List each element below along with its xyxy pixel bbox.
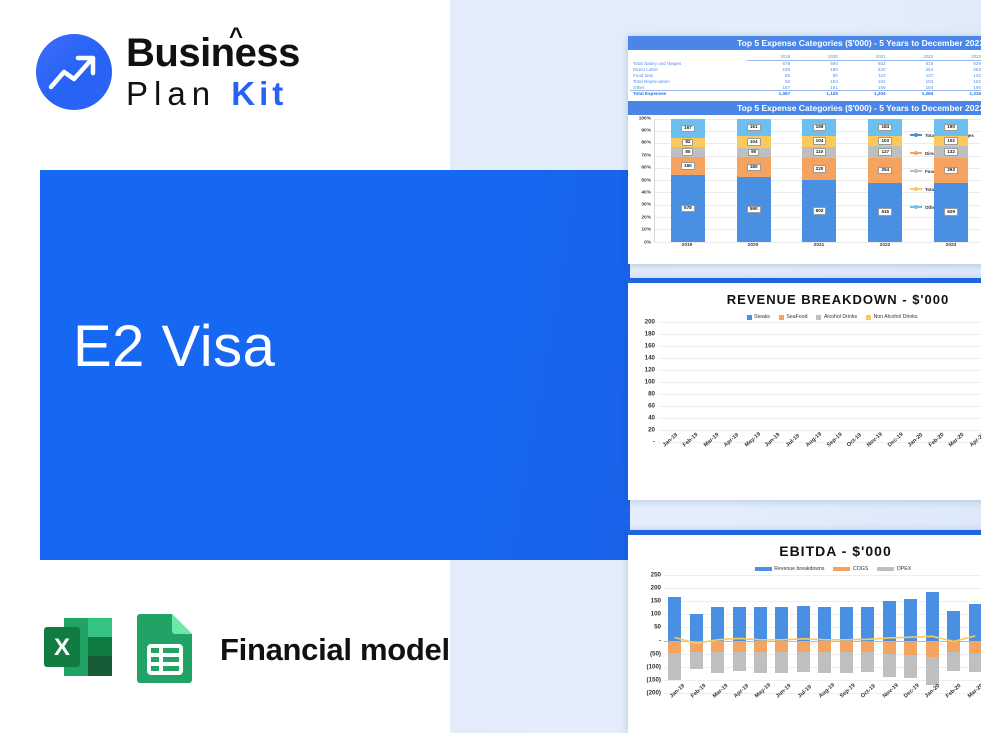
brand-logo: Business ^ Plan Kit <box>36 33 300 110</box>
x-tick-label: 2022 <box>868 243 902 248</box>
y-tick-label: (150) <box>647 676 661 683</box>
y-tick-label: 180 <box>645 331 655 338</box>
bar-value-label: 167 <box>681 125 695 133</box>
y-tick-label: 0% <box>644 240 651 245</box>
revenue-breakdown-card: REVENUE BREAKDOWN - $'000 SteaksSeaFoodA… <box>628 278 981 500</box>
chart-bar-segment: 103 <box>868 136 902 146</box>
legend-item: Revenue breakdowns <box>755 566 825 572</box>
legend-swatch <box>779 315 784 320</box>
growth-arrow-icon <box>36 34 112 110</box>
legend-label: Alcohol Drinks <box>824 314 857 320</box>
legend-swatch <box>910 188 922 189</box>
y-tick-label: 100 <box>651 611 661 618</box>
legend-label: Non Alcohol Drinks <box>874 314 918 320</box>
chart-bar-segment: 80 <box>671 147 705 156</box>
brand-name-line1: Business <box>126 31 300 75</box>
chart-plot-area <box>658 322 981 442</box>
chart-bar-column: 1678280160578 <box>671 119 705 242</box>
chart-bar-segment: 263 <box>934 158 968 183</box>
y-tick-label: 80 <box>648 391 655 398</box>
revenue-chart-body: -20406080100120140160180200 <box>628 322 981 442</box>
ebitda-card: EBITDA - $'000 Revenue breakdownsCOGSOPE… <box>628 530 981 733</box>
brand-name-plan: Plan <box>126 75 216 112</box>
table-total-row: Total Expenses 1,067 1,125 1,204 1,284 1… <box>630 90 981 96</box>
bar-value-label: 110 <box>813 148 826 156</box>
expense-categories-card: Top 5 Expense Categories ($'000) - 5 Yea… <box>628 36 981 264</box>
y-tick-label: (50) <box>650 650 661 657</box>
legend-swatch <box>910 206 922 207</box>
legend-label: Revenue breakdowns <box>774 566 824 572</box>
y-tick-label: 120 <box>645 367 655 374</box>
legend-item: SeaFood <box>779 314 808 320</box>
legend-swatch <box>833 567 850 572</box>
legend-label: Steaks <box>754 314 770 320</box>
chart-bar-segment: 110 <box>802 147 836 158</box>
y-tick-label: 60% <box>641 166 651 171</box>
legend-swatch <box>816 315 821 320</box>
chart-bar-segment: 102 <box>934 136 968 146</box>
y-tick-label: 100 <box>645 379 655 386</box>
bar-value-label: 82 <box>682 139 693 147</box>
cell: 1,316 <box>938 90 981 96</box>
chart-bar-column: 190102132263629 <box>934 119 968 242</box>
y-tick-label: 70% <box>641 153 651 158</box>
y-tick-label: - <box>659 637 661 644</box>
y-tick-label: 200 <box>645 319 655 326</box>
x-tick-label: 2023 <box>934 243 968 248</box>
y-tick-label: 30% <box>641 203 651 208</box>
chart-x-axis: Jan-19Feb-19Mar-19Apr-19May-19Jun-19Jul-… <box>659 442 981 472</box>
bar-value-label: 220 <box>813 165 827 173</box>
chart-y-axis: (200)(150)(100)(50)-50100150200250 <box>628 575 664 693</box>
y-tick-label: 100% <box>639 116 651 121</box>
y-tick-label: 250 <box>651 572 661 579</box>
bar-value-label: 254 <box>878 167 892 175</box>
y-tick-label: 60 <box>648 403 655 410</box>
chart-bar-segment: 167 <box>671 119 705 138</box>
legend-label: OPEX <box>897 566 911 572</box>
expense-chart-title: Top 5 Expense Categories ($'000) - 5 Yea… <box>628 101 981 115</box>
cell: 1,125 <box>795 90 843 96</box>
chart-bar-segment: 82 <box>671 138 705 147</box>
bar-value-label: 169 <box>813 124 827 132</box>
legend-item: COGS <box>833 566 868 572</box>
y-tick-label: 50 <box>654 624 661 631</box>
chart-bar-segment: 90 <box>737 148 771 158</box>
row-label: Total Expenses <box>630 90 747 96</box>
ebitda-line-series <box>664 575 981 694</box>
microsoft-excel-icon: X <box>40 608 118 691</box>
legend-label: COGS <box>853 566 868 572</box>
bar-value-label: 103 <box>878 137 892 145</box>
legend-swatch <box>877 567 894 572</box>
chart-bar-segment: 602 <box>802 180 836 241</box>
y-tick-label: (100) <box>647 663 661 670</box>
legend-item: Steaks <box>747 314 770 320</box>
format-label: Financial model <box>220 632 450 668</box>
chart-bar-segment: 578 <box>671 175 705 242</box>
y-tick-label: 200 <box>651 585 661 592</box>
x-tick-label: 2020 <box>736 243 770 248</box>
chart-bar-segment: 104 <box>737 136 771 147</box>
bar-value-label: 127 <box>878 148 892 156</box>
y-tick-label: 20 <box>648 427 655 434</box>
y-tick-label: 40 <box>648 415 655 422</box>
bar-value-label: 80 <box>682 148 693 156</box>
chart-bar-segment: 104 <box>802 136 836 147</box>
ebitda-chart-body: (200)(150)(100)(50)-50100150200250 <box>628 575 981 693</box>
chart-bar-segment: 220 <box>802 158 836 180</box>
legend-swatch <box>910 134 922 135</box>
cell: 1,204 <box>843 90 891 96</box>
chart-bar-segment: 190 <box>934 119 968 137</box>
chart-bar-segment: 629 <box>934 183 968 242</box>
legend-swatch <box>755 567 772 572</box>
y-tick-label: 10% <box>641 228 651 233</box>
bar-value-label: 160 <box>681 162 695 170</box>
card-accent-bar <box>628 530 981 535</box>
chart-x-axis: Jan-19Feb-19Mar-19Apr-19May-19Jun-19Jul-… <box>665 693 981 723</box>
chart-bar-segment: 160 <box>671 157 705 175</box>
bar-value-label: 161 <box>747 124 761 132</box>
chart-bar-segment: 132 <box>934 146 968 158</box>
page-title: E2 Visa <box>73 313 275 380</box>
y-tick-label: 150 <box>651 598 661 605</box>
svg-text:X: X <box>54 634 70 661</box>
chart-bar-segment: 161 <box>737 119 771 137</box>
bar-value-label: 102 <box>944 137 958 145</box>
chart-bar-segment: 184 <box>868 119 902 137</box>
brand-name-kit: Kit <box>231 75 287 112</box>
ebitda-chart-title: EBITDA - $'000 <box>683 543 981 559</box>
bar-value-label: 104 <box>813 137 827 145</box>
y-tick-label: (200) <box>647 690 661 697</box>
y-tick-label: 20% <box>641 215 651 220</box>
bar-value-label: 90 <box>748 149 759 157</box>
expense-table-title: Top 5 Expense Categories ($'000) - 5 Yea… <box>628 36 981 50</box>
chart-x-axis: 20192020202120222023 <box>654 243 981 248</box>
legend-item: OPEX <box>877 566 911 572</box>
bar-value-label: 104 <box>747 138 761 146</box>
bar-value-label: 132 <box>944 148 958 156</box>
gridline <box>655 242 981 243</box>
chart-plot-area <box>664 575 981 693</box>
legend-item: Non Alcohol Drinks <box>866 314 917 320</box>
chart-bar-column: 16110490180590 <box>737 119 771 242</box>
cell: 1,284 <box>891 90 939 96</box>
ebitda-chart-legend: Revenue breakdownsCOGSOPEX <box>678 566 981 572</box>
cell: 1,067 <box>747 90 795 96</box>
bar-value-label: 263 <box>944 167 958 175</box>
y-tick-label: 50% <box>641 178 651 183</box>
expense-table: 2019 2020 2021 2022 2023 Total Salary an… <box>630 54 981 97</box>
google-sheets-icon <box>132 608 198 691</box>
legend-swatch <box>910 170 922 171</box>
chart-bar-column: 169104110220602 <box>802 119 836 242</box>
chart-bar-segment: 254 <box>868 158 902 182</box>
chart-y-axis: 0%10%20%30%40%50%60%70%80%90%100% <box>628 119 654 243</box>
hero-banner: E2 Visa <box>40 170 630 560</box>
chart-bar-segment: 180 <box>737 157 771 177</box>
y-tick-label: - <box>653 439 655 446</box>
revenue-chart-legend: SteaksSeaFoodAlcohol DrinksNon Alcohol D… <box>676 314 981 320</box>
chart-bar-column: 184103127254615 <box>868 119 902 242</box>
chart-bar-segment: 127 <box>868 146 902 158</box>
y-tick-label: 90% <box>641 129 651 134</box>
format-badges: X Financial model <box>40 608 450 691</box>
y-tick-label: 160 <box>645 343 655 350</box>
legend-label: SeaFood <box>786 314 807 320</box>
bar-value-label: 602 <box>813 207 827 215</box>
x-tick-label: 2019 <box>670 243 704 248</box>
bar-value-label: 190 <box>944 124 958 132</box>
bar-value-label: 590 <box>747 206 761 214</box>
legend-swatch <box>866 315 871 320</box>
legend-swatch <box>747 315 752 320</box>
card-accent-bar <box>628 278 981 283</box>
expense-table-wrapper: 2019 2020 2021 2022 2023 Total Salary an… <box>628 50 981 99</box>
revenue-chart-title: REVENUE BREAKDOWN - $'000 <box>688 292 981 307</box>
chart-y-axis: -20406080100120140160180200 <box>628 322 658 442</box>
bar-value-label: 615 <box>878 208 892 216</box>
chart-bar-segment: 615 <box>868 183 902 242</box>
x-tick-label: 2021 <box>802 243 836 248</box>
bar-value-label: 180 <box>747 164 761 172</box>
expense-stacked-percent-chart: 0%10%20%30%40%50%60%70%80%90%100% 167828… <box>628 115 981 243</box>
bar-value-label: 184 <box>878 124 892 132</box>
chart-bar-segment: 590 <box>737 177 771 242</box>
bar-value-label: 578 <box>681 205 695 213</box>
y-tick-label: 80% <box>641 141 651 146</box>
circumflex-accent-icon: ^ <box>229 25 243 49</box>
chart-bar-segment: 169 <box>802 119 836 136</box>
legend-item: Alcohol Drinks <box>816 314 857 320</box>
chart-bars <box>658 322 981 442</box>
legend-swatch <box>910 152 922 153</box>
y-tick-label: 140 <box>645 355 655 362</box>
bar-value-label: 629 <box>944 208 958 216</box>
y-tick-label: 40% <box>641 191 651 196</box>
